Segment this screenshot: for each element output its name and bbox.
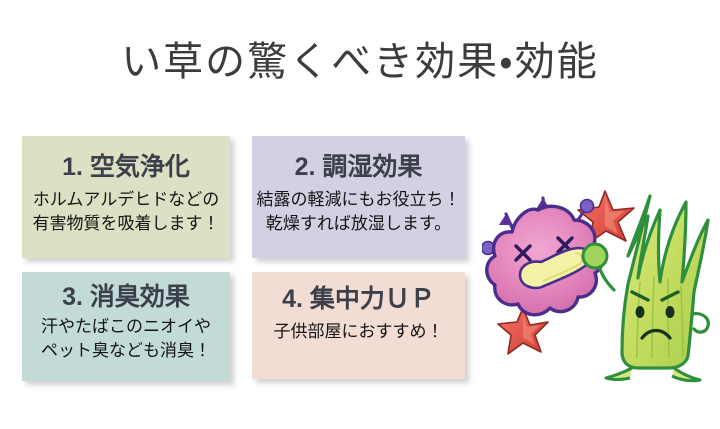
card-body-line: 子供部屋におすすめ！	[252, 320, 465, 344]
benefit-card-concentration-up: 4. 集中力ＵＰ 子供部屋におすすめ！	[252, 272, 465, 379]
benefit-card-humidity-control: 2. 調湿効果 結露の軽減にもお役立ち！ 乾燥すれば放湿します。	[252, 136, 465, 258]
card-body-line: 汗やたばこのニオイや	[22, 315, 230, 339]
benefit-card-air-purification: 1. 空気浄化 ホルムアルデヒドなどの 有害物質を吸着します！	[22, 136, 230, 258]
benefit-card-deodorizing: 3. 消臭効果 汗やたばこのニオイや ペット臭なども消臭！	[22, 272, 230, 381]
card-body: 子供部屋におすすめ！	[252, 320, 465, 344]
card-body: ホルムアルデヒドなどの 有害物質を吸着します！	[22, 188, 230, 236]
card-body-line: ペット臭なども消臭！	[22, 339, 230, 363]
card-heading: 1. 空気浄化	[22, 152, 230, 182]
infographic-page: い草の驚くべき効果・効能 1. 空気浄化 ホルムアルデヒドなどの 有害物質を吸着…	[0, 0, 720, 429]
card-body-line: 乾燥すれば放湿します。	[252, 212, 465, 236]
card-heading: 2. 調湿効果	[252, 152, 465, 182]
eye	[636, 306, 645, 318]
card-body: 汗やたばこのニオイや ペット臭なども消臭！	[22, 315, 230, 363]
card-body-line: ホルムアルデヒドなどの	[22, 188, 230, 212]
mascot-illustration	[482, 186, 714, 386]
card-body-line: 結露の軽減にもお役立ち！	[252, 188, 465, 212]
card-heading: 4. 集中力ＵＰ	[252, 284, 465, 314]
card-body-line: 有害物質を吸着します！	[22, 212, 230, 236]
page-title: い草の驚くべき効果・効能	[0, 36, 720, 88]
card-body: 結露の軽減にもお役立ち！ 乾燥すれば放湿します。	[252, 188, 465, 236]
eye	[666, 306, 675, 318]
card-heading: 3. 消臭効果	[22, 282, 230, 312]
